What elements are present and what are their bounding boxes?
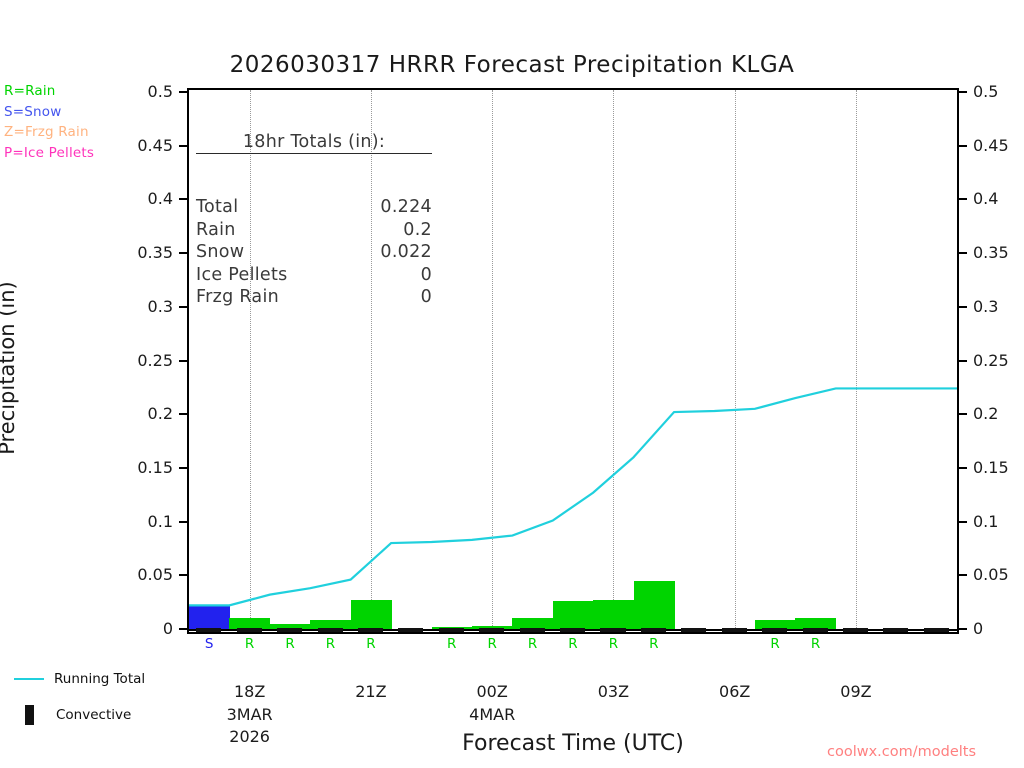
precip-type-marker-r: R	[811, 636, 820, 652]
y-tick-label-right: 0.15	[973, 458, 1009, 477]
legend-label-convective: Convective	[56, 707, 131, 723]
totals-row-label: Ice Pellets	[196, 264, 288, 287]
convective-marker	[722, 628, 747, 632]
convective-marker	[277, 628, 302, 632]
precip-bar	[553, 601, 594, 629]
totals-row: Frzg Rain0	[196, 286, 432, 309]
y-tick-right	[959, 521, 967, 523]
y-tick-label-left: 0.5	[0, 82, 173, 101]
legend-label-running-total: Running Total	[54, 671, 145, 687]
convective-marker	[762, 628, 787, 632]
y-tick-label-left: 0.1	[0, 512, 173, 531]
totals-heading: 18hr Totals (in):	[196, 132, 432, 154]
totals-annotation-box: 18hr Totals (in): Total0.224Rain0.2Snow0…	[196, 92, 432, 349]
convective-marker	[600, 628, 625, 632]
y-tick-label-right: 0.5	[973, 82, 998, 101]
gridline-vertical	[735, 90, 736, 632]
gridline-vertical	[492, 90, 493, 632]
convective-marker	[398, 628, 423, 632]
precip-type-marker-r: R	[245, 636, 254, 652]
y-tick-label-left: 0.45	[0, 136, 173, 155]
convective-marker	[924, 628, 949, 632]
x-tick-label: 09Z	[840, 682, 871, 701]
legend-item-running-total: Running Total	[10, 666, 145, 692]
y-tick-right	[959, 360, 967, 362]
precip-type-marker-r: R	[649, 636, 658, 652]
y-tick-left	[179, 145, 187, 147]
convective-marker	[641, 628, 666, 632]
y-tick-left	[179, 91, 187, 93]
y-tick-right	[959, 145, 967, 147]
totals-row-label: Total	[196, 196, 238, 219]
y-tick-label-right: 0.35	[973, 243, 1009, 262]
totals-row: Rain0.2	[196, 219, 432, 242]
totals-row: Total0.224	[196, 196, 432, 219]
convective-marker	[883, 628, 908, 632]
y-tick-label-left: 0	[0, 619, 173, 638]
convective-marker	[237, 628, 262, 632]
totals-row: Ice Pellets0	[196, 264, 432, 287]
precip-bar	[593, 600, 634, 629]
totals-row-value: 0	[421, 286, 432, 309]
y-tick-left	[179, 252, 187, 254]
precip-type-marker-r: R	[366, 636, 375, 652]
precip-type-marker-r: R	[609, 636, 618, 652]
watermark: coolwx.com/modelts	[827, 744, 976, 760]
convective-marker	[520, 628, 545, 632]
precip-type-key-item-1: S=Snow	[4, 102, 94, 123]
y-tick-label-left: 0.2	[0, 404, 173, 423]
convective-marker	[439, 628, 464, 632]
x-tick-label: 18Z	[234, 682, 265, 701]
totals-row-label: Rain	[196, 219, 236, 242]
totals-row-value: 0.224	[380, 196, 432, 219]
totals-row-label: Frzg Rain	[196, 286, 279, 309]
convective-marker	[196, 628, 221, 632]
y-tick-label-right: 0.25	[973, 351, 1009, 370]
y-tick-right	[959, 306, 967, 308]
convective-marker	[681, 628, 706, 632]
y-tick-label-left: 0.35	[0, 243, 173, 262]
precip-type-marker-r: R	[447, 636, 456, 652]
precip-bar	[351, 600, 392, 629]
chart-canvas: 2026030317 HRRR Forecast Precipitation K…	[0, 0, 1024, 768]
y-tick-left	[179, 521, 187, 523]
y-axis-title: Precipitation (in)	[0, 238, 19, 498]
precip-type-marker-r: R	[326, 636, 335, 652]
precip-bar	[189, 605, 230, 629]
y-tick-label-right: 0	[973, 619, 983, 638]
precip-type-marker-r: R	[285, 636, 294, 652]
y-tick-right	[959, 413, 967, 415]
y-tick-left	[179, 306, 187, 308]
x-tick-label: 00Z	[476, 682, 507, 701]
totals-row: Snow0.022	[196, 241, 432, 264]
y-tick-label-right: 0.45	[973, 136, 1009, 155]
running-total-line-icon	[14, 678, 44, 680]
y-tick-left	[179, 198, 187, 200]
y-tick-label-left: 0.4	[0, 189, 173, 208]
y-tick-left	[179, 413, 187, 415]
y-tick-left	[179, 628, 187, 630]
x-tick-sublabel-date: 3MAR	[227, 704, 273, 725]
legend-item-convective: Convective	[10, 702, 145, 728]
y-tick-right	[959, 252, 967, 254]
y-tick-label-right: 0.3	[973, 297, 998, 316]
precip-type-marker-r: R	[568, 636, 577, 652]
page-title: 2026030317 HRRR Forecast Precipitation K…	[0, 52, 1024, 78]
y-tick-label-right: 0.05	[973, 565, 1009, 584]
totals-row-label: Snow	[196, 241, 244, 264]
totals-row-value: 0.022	[380, 241, 432, 264]
y-tick-right	[959, 574, 967, 576]
x-tick-label: 03Z	[598, 682, 629, 701]
chart-legend: Running Total Convective	[10, 666, 145, 728]
precip-type-marker-row: SRRRRRRRRRRRR	[187, 636, 959, 658]
convective-box-icon	[25, 705, 34, 725]
x-tick-label: 06Z	[719, 682, 750, 701]
convective-marker	[560, 628, 585, 632]
gridline-vertical	[856, 90, 857, 632]
convective-marker	[843, 628, 868, 632]
precip-type-marker-r: R	[528, 636, 537, 652]
x-tick-sublabel-date: 4MAR	[469, 704, 515, 725]
y-tick-label-left: 0.15	[0, 458, 173, 477]
convective-marker	[358, 628, 383, 632]
y-tick-label-left: 0.25	[0, 351, 173, 370]
y-tick-right	[959, 467, 967, 469]
convective-marker	[803, 628, 828, 632]
y-tick-label-left: 0.3	[0, 297, 173, 316]
gridline-vertical	[613, 90, 614, 632]
y-tick-left	[179, 360, 187, 362]
x-tick-label: 21Z	[355, 682, 386, 701]
convective-marker	[479, 628, 504, 632]
y-tick-right	[959, 628, 967, 630]
y-tick-right	[959, 91, 967, 93]
totals-row-value: 0.2	[403, 219, 432, 242]
totals-row-value: 0	[421, 264, 432, 287]
convective-marker	[318, 628, 343, 632]
y-tick-label-right: 0.2	[973, 404, 998, 423]
y-tick-label-left: 0.05	[0, 565, 173, 584]
y-tick-right	[959, 198, 967, 200]
y-tick-label-right: 0.1	[973, 512, 998, 531]
y-tick-left	[179, 574, 187, 576]
precip-type-marker-s: S	[205, 636, 214, 652]
precip-type-marker-r: R	[487, 636, 496, 652]
precip-bar	[634, 581, 675, 629]
precip-type-marker-r: R	[770, 636, 779, 652]
y-tick-label-right: 0.4	[973, 189, 998, 208]
y-tick-left	[179, 467, 187, 469]
